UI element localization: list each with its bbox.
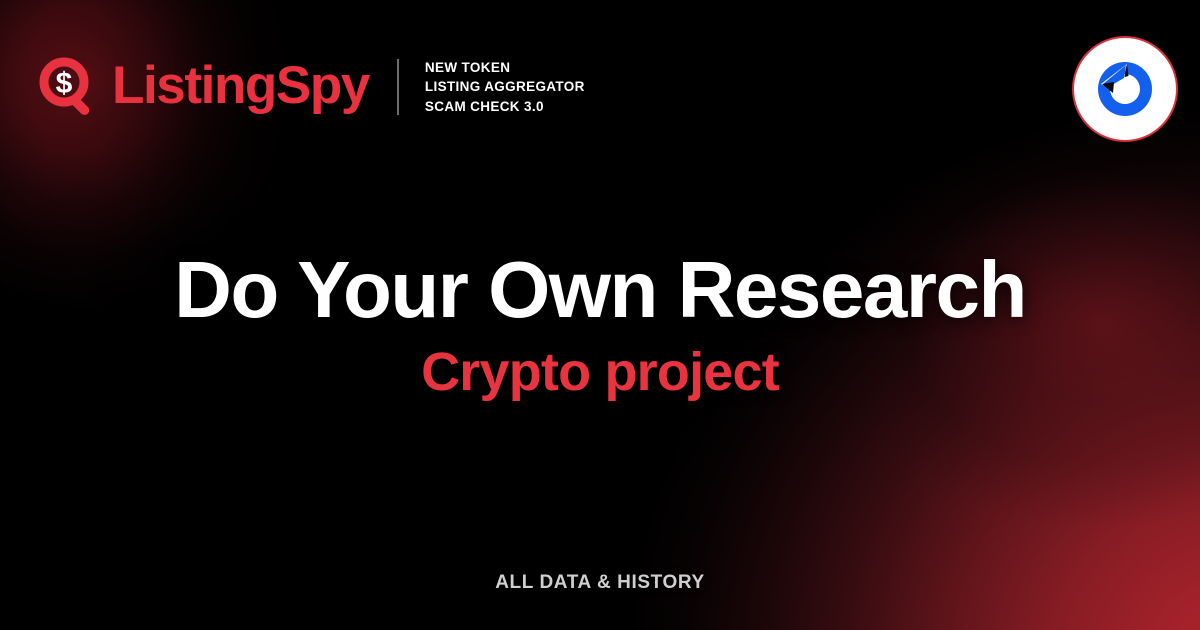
- crypto-token-logo-icon: [1093, 57, 1157, 121]
- tagline-line-1: NEW TOKEN: [425, 58, 585, 77]
- hero-section: Do Your Own Research Crypto project: [0, 250, 1200, 401]
- banner-content: $ ListingSpy NEW TOKEN LISTING AGGREGATO…: [0, 0, 1200, 630]
- hero-subtitle: Crypto project: [0, 344, 1200, 401]
- brand-name: ListingSpy: [112, 59, 369, 112]
- project-badge[interactable]: [1072, 36, 1178, 142]
- tagline-line-2: LISTING AGGREGATOR: [425, 77, 585, 96]
- hero-title: Do Your Own Research: [0, 250, 1200, 330]
- brand-header: $ ListingSpy NEW TOKEN LISTING AGGREGATO…: [38, 56, 585, 118]
- header-divider: [397, 59, 399, 115]
- brand-tagline: NEW TOKEN LISTING AGGREGATOR SCAM CHECK …: [425, 58, 585, 115]
- magnifier-dollar-icon: $: [38, 56, 100, 118]
- svg-text:$: $: [56, 67, 73, 100]
- tagline-line-3: SCAM CHECK 3.0: [425, 97, 585, 116]
- footer-text: ALL DATA & HISTORY: [0, 572, 1200, 594]
